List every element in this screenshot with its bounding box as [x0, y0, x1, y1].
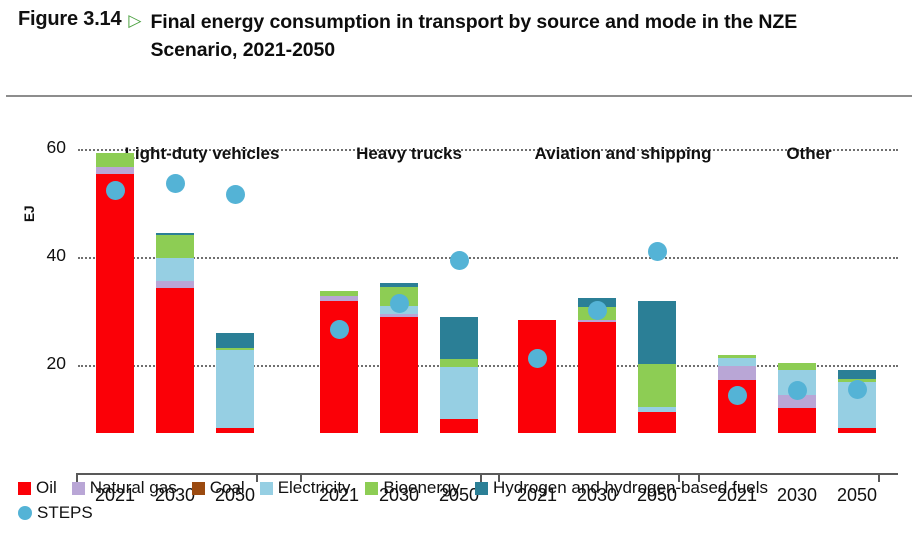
- bar-segment-oil: [440, 419, 478, 433]
- y-axis-title: EJ: [22, 205, 37, 222]
- steps-marker-1-2030[interactable]: [390, 294, 409, 313]
- bar-segment-natural-gas: [156, 281, 194, 289]
- plot-area: Light-duty vehiclesHeavy trucksAviation …: [78, 138, 898, 433]
- legend-label: Bioenergy: [383, 478, 460, 498]
- chart-container: EJ 204060 Light-duty vehiclesHeavy truck…: [0, 98, 919, 443]
- group-header-2: Aviation and shipping: [510, 144, 736, 164]
- figure-number-label: Figure 3.14: [18, 8, 121, 31]
- group-header-1: Heavy trucks: [320, 144, 498, 164]
- bar-segment-oil: [838, 428, 876, 433]
- y-tick-60: 60: [20, 137, 66, 158]
- bar-segment-bioenergy: [638, 364, 676, 407]
- legend-item-bioenergy[interactable]: Bioenergy: [365, 478, 460, 498]
- legend-item-steps[interactable]: STEPS: [18, 503, 93, 523]
- bar-segment-oil: [638, 412, 676, 433]
- figure-caption: Final energy consumption in transport by…: [150, 8, 840, 64]
- legend-swatch-icon: [72, 482, 85, 495]
- legend-swatch-icon: [18, 482, 31, 495]
- legend-item-coal[interactable]: Coal: [192, 478, 245, 498]
- legend-label: Hydrogen and hydrogen-based fuels: [493, 478, 768, 498]
- figure-title-block: Figure 3.14 ▷ Final energy consumption i…: [18, 8, 908, 64]
- chart-legend: OilNatural gasCoalElectricityBioenergyHy…: [18, 478, 913, 523]
- bar-segment-hydrogen-and-hydrogen-based-fuels: [440, 317, 478, 359]
- bar-segment-oil: [778, 408, 816, 433]
- steps-marker-2-2021[interactable]: [528, 349, 547, 368]
- legend-label: Electricity: [278, 478, 351, 498]
- legend-label: STEPS: [37, 503, 93, 523]
- bar-2-2050[interactable]: [638, 301, 676, 433]
- legend-label: Natural gas: [90, 478, 177, 498]
- y-tick-40: 40: [20, 245, 66, 266]
- legend-item-hydrogen-and-hydrogen-based-fuels[interactable]: Hydrogen and hydrogen-based fuels: [475, 478, 768, 498]
- legend-item-natural-gas[interactable]: Natural gas: [72, 478, 177, 498]
- bar-2-2021[interactable]: [518, 320, 556, 433]
- bar-0-2050[interactable]: [216, 333, 254, 433]
- legend-item-electricity[interactable]: Electricity: [260, 478, 351, 498]
- title-divider: [6, 95, 912, 97]
- bar-segment-bioenergy: [156, 235, 194, 258]
- legend-swatch-icon: [18, 506, 32, 520]
- bar-segment-oil: [380, 317, 418, 433]
- bar-segment-electricity: [156, 258, 194, 281]
- triangle-marker-icon: ▷: [128, 8, 141, 34]
- bar-segment-hydrogen-and-hydrogen-based-fuels: [838, 370, 876, 379]
- bar-segment-bioenergy: [440, 359, 478, 367]
- steps-marker-3-2021[interactable]: [728, 386, 747, 405]
- bar-segment-oil: [518, 320, 556, 433]
- bar-segment-oil: [578, 322, 616, 433]
- bar-1-2050[interactable]: [440, 317, 478, 433]
- bar-1-2021[interactable]: [320, 291, 358, 433]
- bar-segment-electricity: [440, 367, 478, 419]
- legend-swatch-icon: [192, 482, 205, 495]
- steps-marker-0-2050[interactable]: [226, 185, 245, 204]
- gridline-40: [78, 257, 898, 259]
- legend-label: Coal: [210, 478, 245, 498]
- steps-marker-3-2050[interactable]: [848, 380, 867, 399]
- legend-row-0: OilNatural gasCoalElectricityBioenergyHy…: [18, 478, 913, 498]
- steps-marker-1-2050[interactable]: [450, 251, 469, 270]
- bar-segment-hydrogen-and-hydrogen-based-fuels: [216, 333, 254, 348]
- legend-swatch-icon: [365, 482, 378, 495]
- bar-segment-oil: [156, 288, 194, 433]
- steps-marker-2-2030[interactable]: [588, 301, 607, 320]
- legend-swatch-icon: [260, 482, 273, 495]
- legend-row-1: STEPS: [18, 503, 913, 523]
- gridline-20: [78, 365, 898, 367]
- bar-segment-electricity: [718, 358, 756, 366]
- x-axis-baseline: [78, 473, 898, 475]
- bar-0-2030[interactable]: [156, 233, 194, 433]
- legend-swatch-icon: [475, 482, 488, 495]
- legend-item-oil[interactable]: Oil: [18, 478, 57, 498]
- y-tick-20: 20: [20, 353, 66, 374]
- steps-marker-3-2030[interactable]: [788, 381, 807, 400]
- group-header-3: Other: [718, 144, 900, 164]
- steps-marker-2-2050[interactable]: [648, 242, 667, 261]
- bar-segment-electricity: [216, 350, 254, 427]
- legend-label: Oil: [36, 478, 57, 498]
- bar-segment-bioenergy: [96, 153, 134, 167]
- bar-segment-oil: [216, 428, 254, 433]
- bar-segment-oil: [96, 174, 134, 433]
- bar-segment-natural-gas: [718, 366, 756, 380]
- steps-marker-1-2021[interactable]: [330, 320, 349, 339]
- bar-segment-hydrogen-and-hydrogen-based-fuels: [638, 301, 676, 364]
- steps-marker-0-2030[interactable]: [166, 174, 185, 193]
- steps-marker-0-2021[interactable]: [106, 181, 125, 200]
